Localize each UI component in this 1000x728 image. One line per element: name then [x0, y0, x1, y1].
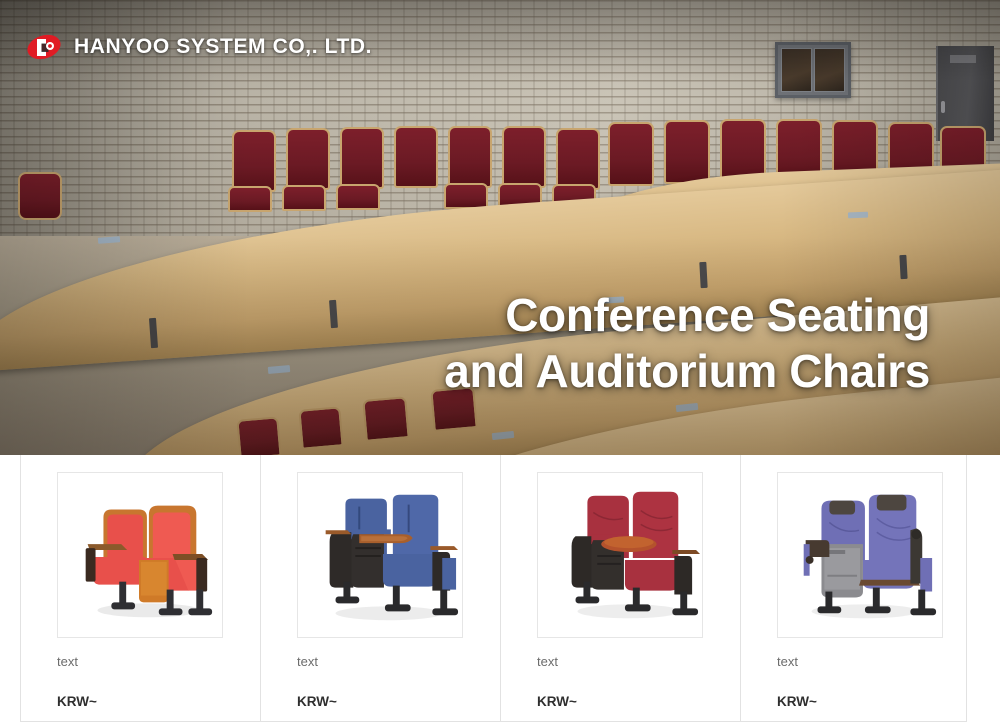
product-card[interactable]: text KRW~	[260, 455, 500, 722]
product-price: KRW~	[57, 694, 260, 709]
red-auditorium-chair-pair-illustration	[58, 473, 222, 637]
hero-title-line-1: Conference Seating	[444, 288, 930, 344]
product-card[interactable]: text KRW~	[500, 455, 740, 722]
blue-auditorium-chair-pair-illustration	[298, 473, 462, 637]
crimson-auditorium-chair-pair-illustration	[538, 473, 702, 637]
product-label: text	[297, 654, 500, 669]
brand-name: HANYOO SYSTEM CO,. LTD.	[74, 35, 372, 59]
product-thumbnail[interactable]	[297, 472, 463, 638]
product-price: KRW~	[297, 694, 500, 709]
product-thumbnail[interactable]	[537, 472, 703, 638]
hanyoo-oval-logo-icon	[26, 30, 62, 64]
product-card[interactable]: text KRW~	[740, 455, 967, 722]
product-card[interactable]: text KRW~	[20, 455, 260, 722]
brand-logo[interactable]: HANYOO SYSTEM CO,. LTD.	[26, 30, 372, 64]
product-price: KRW~	[537, 694, 740, 709]
purple-auditorium-chair-pair-illustration	[778, 473, 942, 637]
product-thumbnail[interactable]	[57, 472, 223, 638]
hero-title: Conference Seating and Auditorium Chairs	[444, 288, 930, 399]
product-grid: text KRW~	[20, 455, 967, 722]
product-price: KRW~	[777, 694, 966, 709]
product-label: text	[777, 654, 966, 669]
product-thumbnail[interactable]	[777, 472, 943, 638]
hero-title-line-2: and Auditorium Chairs	[444, 344, 930, 400]
page-root: HANYOO SYSTEM CO,. LTD. Conference Seati…	[0, 0, 1000, 728]
product-label: text	[537, 654, 740, 669]
product-label: text	[57, 654, 260, 669]
hero-banner: HANYOO SYSTEM CO,. LTD. Conference Seati…	[0, 0, 1000, 455]
